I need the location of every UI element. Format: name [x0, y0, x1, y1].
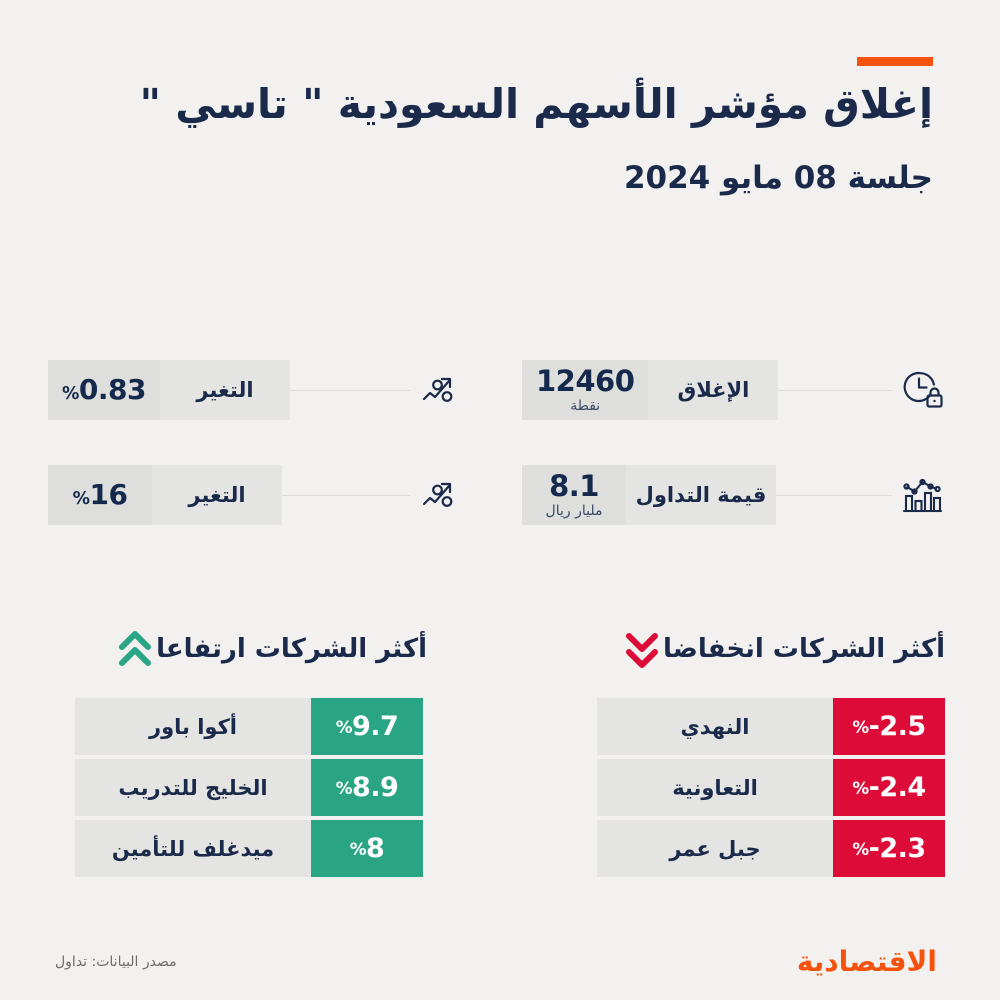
stat-number: 8.1: [549, 472, 599, 501]
loser-name: التعاونية: [597, 759, 833, 816]
section-heading-losers: أكثر الشركات انخفاضا: [611, 620, 945, 678]
stat-card-closing: الإغلاق 12460 نقطة: [522, 360, 952, 420]
stat-value-change-index: %0.83: [48, 360, 160, 420]
percent-sign: %: [336, 778, 352, 798]
footer: مصدر البيانات: تداول الاقتصادية: [0, 920, 1000, 1000]
loser-change: %-2.3: [833, 820, 945, 877]
stat-number: %0.83: [62, 376, 146, 404]
connector-line: [776, 495, 892, 496]
brand-logo: الاقتصادية: [797, 945, 937, 978]
gainers-list: %9.7 أكوا باور %8.9 الخليج للتدريب %8 مي…: [75, 698, 423, 881]
list-item: %9.7 أكوا باور: [75, 698, 423, 755]
loser-change-text: -2.5: [869, 711, 926, 742]
percent-sign: %: [350, 839, 366, 859]
section-title-losers: أكثر الشركات انخفاضا: [663, 634, 945, 664]
section-title-gainers: أكثر الشركات ارتفاعا: [156, 634, 427, 664]
page-subtitle: جلسة 08 مايو 2024: [53, 160, 933, 196]
connector-line: [282, 495, 410, 496]
clock-lock-icon: [892, 360, 952, 420]
gainer-name: أكوا باور: [75, 698, 311, 755]
double-chevron-down-icon: [621, 626, 663, 672]
stat-card-change-value: التغير %16: [48, 465, 470, 525]
stat-card-trading-value: قيمة التداول 8.1 مليار ريال: [522, 465, 952, 525]
stat-number-text: 0.83: [79, 373, 146, 406]
loser-change-text: -2.4: [869, 772, 926, 803]
stat-value-change-value: %16: [48, 465, 152, 525]
page-title: إغلاق مؤشر الأسهم السعودية " تاسي ": [53, 78, 933, 130]
list-item: %8 ميدغلف للتأمين: [75, 820, 423, 877]
accent-bar: [857, 57, 933, 66]
stat-card-change-index: التغير %0.83: [48, 360, 470, 420]
losers-list: %-2.5 النهدي %-2.4 التعاونية %-2.3 جبل ع…: [597, 698, 945, 881]
list-item: %-2.3 جبل عمر: [597, 820, 945, 877]
stat-number: 12460: [536, 367, 634, 396]
stat-label-change-value: التغير: [152, 465, 282, 525]
double-chevron-up-icon: [114, 626, 156, 672]
stat-number: %16: [73, 481, 128, 509]
connector-line: [290, 390, 410, 391]
bar-line-chart-icon: [892, 465, 952, 525]
gainer-change: %8: [311, 820, 423, 877]
stat-label-trading-value: قيمة التداول: [626, 465, 776, 525]
stat-value-closing: 12460 نقطة: [522, 360, 648, 420]
loser-change-text: -2.3: [869, 833, 926, 864]
percent-sign: %: [852, 778, 868, 798]
percent-sign: %: [73, 489, 90, 509]
stat-unit: نقطة: [570, 399, 600, 413]
stat-number-text: 16: [89, 478, 127, 511]
connector-line: [778, 390, 892, 391]
loser-name: النهدي: [597, 698, 833, 755]
percent-trend-up-icon: [410, 465, 470, 525]
list-item: %8.9 الخليج للتدريب: [75, 759, 423, 816]
gainer-change: %8.9: [311, 759, 423, 816]
list-item: %-2.5 النهدي: [597, 698, 945, 755]
stat-label-closing: الإغلاق: [648, 360, 778, 420]
stat-value-trading-value: 8.1 مليار ريال: [522, 465, 626, 525]
gainer-change-text: 9.7: [352, 711, 398, 742]
loser-change: %-2.5: [833, 698, 945, 755]
percent-sign: %: [852, 839, 868, 859]
percent-sign: %: [62, 384, 79, 404]
list-item: %-2.4 التعاونية: [597, 759, 945, 816]
percent-trend-up-icon: [410, 360, 470, 420]
gainer-name: الخليج للتدريب: [75, 759, 311, 816]
gainer-name: ميدغلف للتأمين: [75, 820, 311, 877]
gainer-change-text: 8.9: [352, 772, 398, 803]
stat-label-change-index: التغير: [160, 360, 290, 420]
section-heading-gainers: أكثر الشركات ارتفاعا: [104, 620, 427, 678]
gainer-change: %9.7: [311, 698, 423, 755]
loser-change: %-2.4: [833, 759, 945, 816]
loser-name: جبل عمر: [597, 820, 833, 877]
percent-sign: %: [336, 717, 352, 737]
data-source-note: مصدر البيانات: تداول: [55, 954, 177, 970]
percent-sign: %: [852, 717, 868, 737]
gainer-change-text: 8: [366, 833, 384, 864]
stat-unit: مليار ريال: [546, 504, 603, 518]
